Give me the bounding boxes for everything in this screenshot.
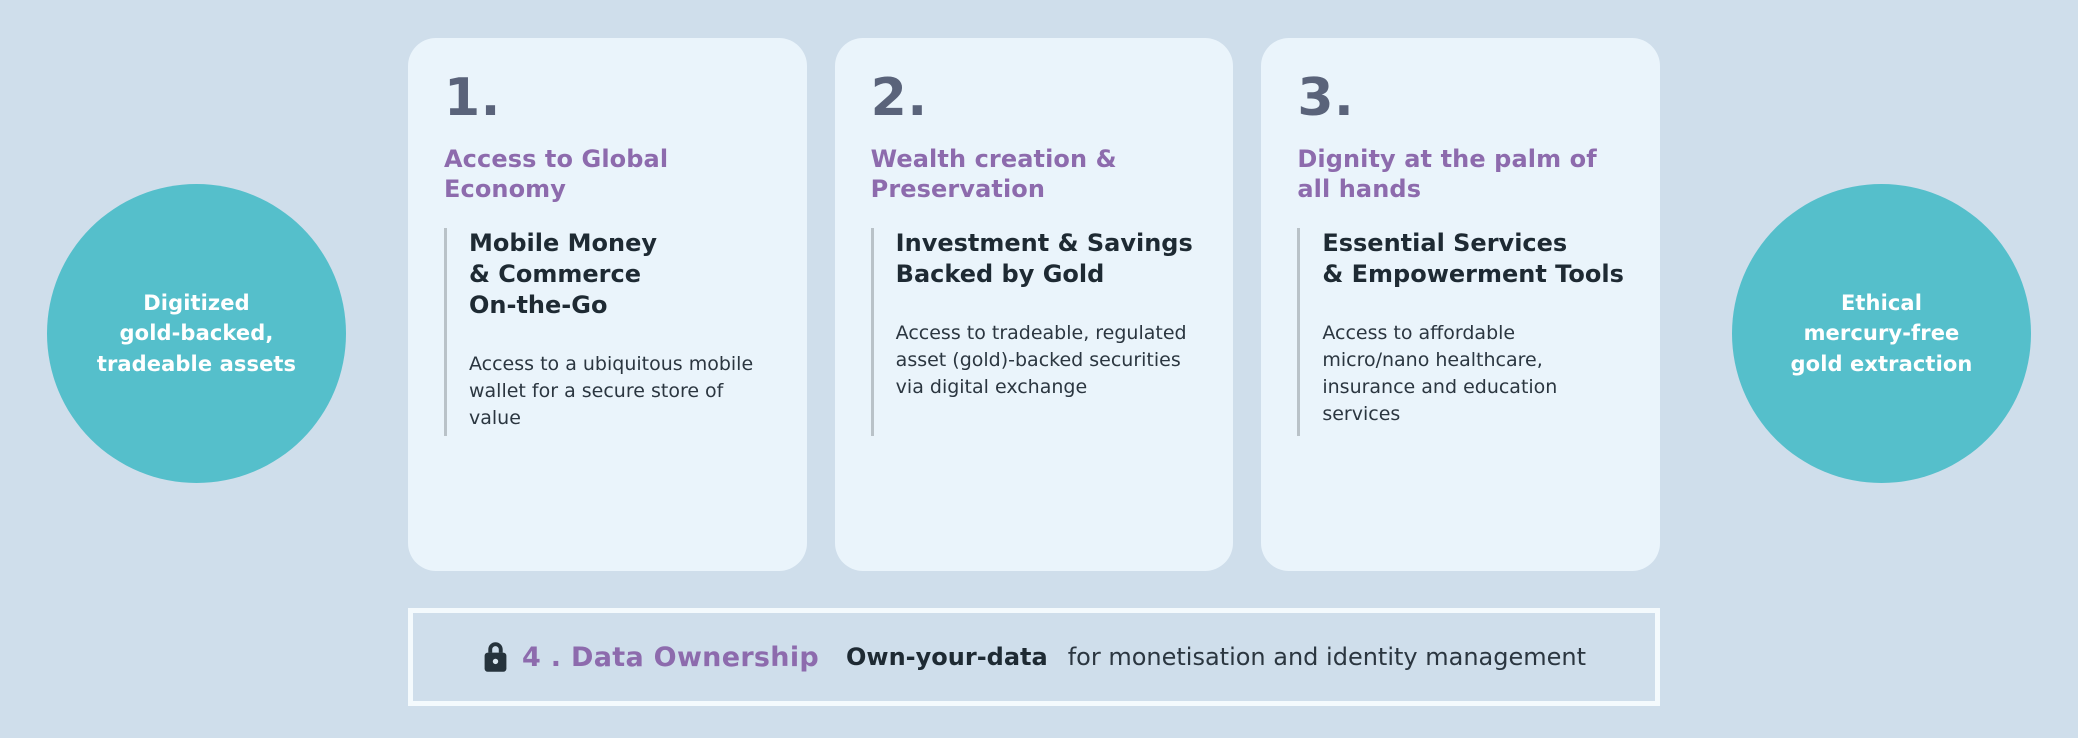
banner-strong-text: Own-your-data — [846, 643, 1048, 671]
card-heading-2: Wealth creation & Preservation — [871, 144, 1198, 204]
right-circle-label: Ethical mercury-free gold extraction — [1791, 288, 1973, 379]
left-highlight-circle: Digitized gold-backed, tradeable assets — [47, 184, 346, 483]
data-ownership-banner: 4 . Data Ownership Own-your-data for mon… — [408, 608, 1660, 706]
card-body-1: Mobile Money & Commerce On-the-Go Access… — [444, 228, 771, 436]
value-proposition-cards: 1. Access to Global Economy Mobile Money… — [408, 38, 1660, 571]
card-subtitle-3: Essential Services & Empowerment Tools — [1322, 228, 1624, 289]
banner-rest-text: for monetisation and identity management — [1068, 643, 1586, 671]
card-body-3: Essential Services & Empowerment Tools A… — [1297, 228, 1624, 436]
left-circle-label: Digitized gold-backed, tradeable assets — [97, 288, 296, 379]
card-subtitle-1: Mobile Money & Commerce On-the-Go — [469, 228, 771, 320]
card-description-3: Access to affordable micro/nano healthca… — [1322, 320, 1624, 428]
right-highlight-circle: Ethical mercury-free gold extraction — [1732, 184, 2031, 483]
card-number-2: 2. — [871, 72, 1198, 124]
card-body-2: Investment & Savings Backed by Gold Acce… — [871, 228, 1198, 436]
card-description-2: Access to tradeable, regulated asset (go… — [896, 320, 1198, 401]
card-heading-3: Dignity at the palm of all hands — [1297, 144, 1624, 204]
lock-icon — [482, 641, 509, 673]
card-number-3: 3. — [1297, 72, 1624, 124]
card-number-1: 1. — [444, 72, 771, 124]
banner-step-label: 4 . Data Ownership — [522, 642, 819, 673]
card-description-1: Access to a ubiquitous mobile wallet for… — [469, 351, 771, 432]
value-card-3: 3. Dignity at the palm of all hands Esse… — [1261, 38, 1660, 571]
value-card-2: 2. Wealth creation & Preservation Invest… — [835, 38, 1234, 571]
card-subtitle-2: Investment & Savings Backed by Gold — [896, 228, 1198, 289]
card-heading-1: Access to Global Economy — [444, 144, 771, 204]
value-card-1: 1. Access to Global Economy Mobile Money… — [408, 38, 807, 571]
